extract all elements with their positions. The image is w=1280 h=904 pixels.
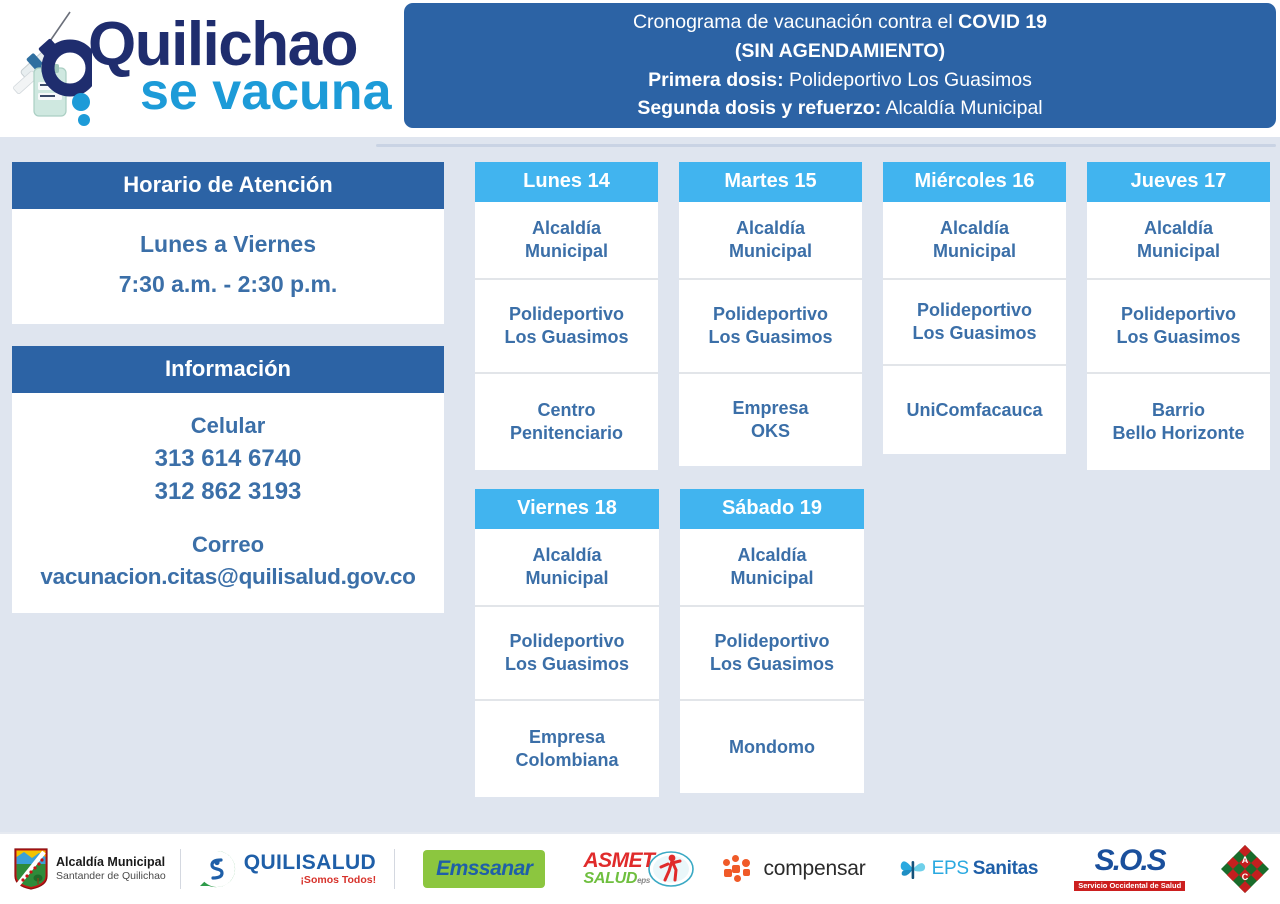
slot-line: Polideportivo <box>912 299 1036 322</box>
email-label: Correo <box>22 528 434 561</box>
day-card-grid: Lunes 14 AlcaldíaMunicipal Polideportivo… <box>475 162 1270 816</box>
vaccination-schedule-poster: Quilichao se vacuna Cronograma de vacuna… <box>0 0 1280 904</box>
brand-logo: Quilichao se vacuna <box>10 4 400 130</box>
quilisalud-mark-icon <box>197 849 237 889</box>
slot-line: Los Guasimos <box>708 326 832 349</box>
slot-jueves-17-2: PolideportivoLos Guasimos <box>1087 278 1270 372</box>
schedule-panel: Horario de Atención Lunes a Viernes 7:30… <box>12 162 444 324</box>
slot-lunes-14-3: CentroPenitenciario <box>475 372 658 470</box>
banner-line-no-appointment: (SIN AGENDAMIENTO) <box>735 37 945 66</box>
sos-name: S.O.S <box>1074 846 1185 876</box>
slot-jueves-17-3: BarrioBello Horizonte <box>1087 372 1270 470</box>
slot-lunes-14-1: AlcaldíaMunicipal <box>475 202 658 278</box>
day-header-sabado-19: Sábado 19 <box>680 489 864 529</box>
slot-line: Municipal <box>1137 240 1220 263</box>
footer-divider-1 <box>180 849 181 889</box>
compensar-name: compensar <box>763 857 865 881</box>
slot-jueves-17-1: AlcaldíaMunicipal <box>1087 202 1270 278</box>
day-card-viernes-18[interactable]: Viernes 18 AlcaldíaMunicipal Polideporti… <box>475 489 659 797</box>
emssanar-name: Emssanar <box>423 850 545 888</box>
slot-line: Municipal <box>525 567 608 590</box>
sos-tagline: Servicio Occidental de Salud <box>1074 881 1185 892</box>
footer-divider-2 <box>394 849 395 889</box>
slot-line: Alcaldía <box>1137 217 1220 240</box>
footer-logo-emssanar: Emssanar <box>423 838 545 900</box>
first-dose-value: Polideportivo Los Guasimos <box>784 69 1032 91</box>
slot-line: Polideportivo <box>710 630 834 653</box>
second-dose-value: Alcaldía Municipal <box>881 97 1043 119</box>
day-card-martes-15[interactable]: Martes 15 AlcaldíaMunicipal Polideportiv… <box>679 162 862 466</box>
logo-wordmark: Quilichao se vacuna <box>88 19 392 115</box>
slot-line: Alcaldía <box>525 544 608 567</box>
footer-logo-aic: A C <box>1221 838 1269 900</box>
day-header-viernes-18: Viernes 18 <box>475 489 659 529</box>
day-card-row-1: Lunes 14 AlcaldíaMunicipal Polideportivo… <box>475 162 1270 470</box>
day-header-miercoles-16: Miércoles 16 <box>883 162 1066 202</box>
day-card-sabado-19[interactable]: Sábado 19 AlcaldíaMunicipal Polideportiv… <box>680 489 864 793</box>
alcaldia-text: Alcaldía Municipal Santander de Quilicha… <box>56 855 166 883</box>
slot-martes-15-2: PolideportivoLos Guasimos <box>679 278 862 372</box>
banner-line-title: Cronograma de vacunación contra el COVID… <box>633 8 1047 37</box>
slot-line: Polideportivo <box>1116 303 1240 326</box>
slot-line: Alcaldía <box>729 217 812 240</box>
email-address[interactable]: vacunacion.citas@quilisalud.gov.co <box>22 561 434 593</box>
sos-text: S.O.S Servicio Occidental de Salud <box>1074 846 1185 892</box>
header-banner: Cronograma de vacunación contra el COVID… <box>404 3 1276 128</box>
information-panel-title: Información <box>12 346 444 393</box>
aic-letters: C <box>1242 872 1249 882</box>
slot-line: Polideportivo <box>505 630 629 653</box>
info-spacer <box>22 508 434 528</box>
footer-logo-bar: Alcaldía Municipal Santander de Quilicha… <box>0 832 1280 904</box>
asmet-line1: ASMET <box>583 849 654 872</box>
footer-logo-alcaldia: Alcaldía Municipal Santander de Quilicha… <box>0 838 166 900</box>
schedule-days: Lunes a Viernes <box>22 225 434 265</box>
slot-line: Los Guasimos <box>1116 326 1240 349</box>
day-header-lunes-14: Lunes 14 <box>475 162 658 202</box>
information-panel-body: Celular 313 614 6740 312 862 3193 Correo… <box>12 393 444 613</box>
quilisalud-text: QUILISALUD ¡Somos Todos! <box>244 852 376 885</box>
phone-number-1[interactable]: 313 614 6740 <box>22 442 434 475</box>
slot-line: Los Guasimos <box>504 326 628 349</box>
slot-line: Empresa <box>515 726 618 749</box>
slot-line: Los Guasimos <box>710 653 834 676</box>
syringe-vaccine-vial-icon <box>10 6 92 128</box>
header-divider <box>376 144 1276 147</box>
slot-line: Bello Horizonte <box>1112 422 1244 445</box>
slot-line: Barrio <box>1112 399 1244 422</box>
quilisalud-tagline: ¡Somos Todos! <box>244 875 376 886</box>
day-header-martes-15: Martes 15 <box>679 162 862 202</box>
slot-line: Mondomo <box>729 736 815 759</box>
day-card-jueves-17[interactable]: Jueves 17 AlcaldíaMunicipal Polideportiv… <box>1087 162 1270 470</box>
asmet-eps-label: eps <box>637 876 650 885</box>
footer-logo-sos: S.O.S Servicio Occidental de Salud <box>1074 838 1185 900</box>
asmet-subname: SALUDeps <box>583 871 654 886</box>
asmet-name: ASMET <box>583 851 654 871</box>
left-info-column: Horario de Atención Lunes a Viernes 7:30… <box>12 162 444 635</box>
slot-viernes-18-3: EmpresaColombiana <box>475 699 659 797</box>
slot-line: Municipal <box>525 240 608 263</box>
alcaldia-name: Alcaldía Municipal <box>56 855 166 870</box>
slot-line: Los Guasimos <box>505 653 629 676</box>
day-card-miercoles-16[interactable]: Miércoles 16 AlcaldíaMunicipal Polidepor… <box>883 162 1066 454</box>
day-header-jueves-17: Jueves 17 <box>1087 162 1270 202</box>
slot-martes-15-1: AlcaldíaMunicipal <box>679 202 862 278</box>
slot-martes-15-3: EmpresaOKS <box>679 372 862 466</box>
slot-miercoles-16-3: UniComfacauca <box>883 364 1066 454</box>
asmet-line2: SALUD <box>583 870 637 887</box>
slot-line: UniComfacauca <box>906 399 1042 422</box>
top-band: Quilichao se vacuna Cronograma de vacuna… <box>0 0 1280 137</box>
second-dose-label: Segunda dosis y refuerzo: <box>637 97 881 119</box>
alcaldia-coat-of-arms-icon <box>14 848 48 890</box>
slot-viernes-18-2: PolideportivoLos Guasimos <box>475 605 659 699</box>
footer-logo-asmet-salud: ASMET SALUDeps <box>583 838 694 900</box>
sanitas-name: Sanitas <box>973 858 1039 880</box>
slot-line: Penitenciario <box>510 422 623 445</box>
slot-line: Centro <box>510 399 623 422</box>
sanitas-butterfly-icon <box>898 854 928 884</box>
schedule-panel-title: Horario de Atención <box>12 162 444 209</box>
alcaldia-subtitle: Santander de Quilichao <box>56 870 166 883</box>
slot-lunes-14-2: PolideportivoLos Guasimos <box>475 278 658 372</box>
asmet-text: ASMET SALUDeps <box>583 851 654 887</box>
slot-line: Colombiana <box>515 749 618 772</box>
slot-line: Alcaldía <box>933 217 1016 240</box>
schedule-panel-body: Lunes a Viernes 7:30 a.m. - 2:30 p.m. <box>12 209 444 324</box>
phone-label: Celular <box>22 409 434 442</box>
slot-line: Alcaldía <box>730 544 813 567</box>
slot-sabado-19-3: Mondomo <box>680 699 864 793</box>
sanitas-eps-label: EPS <box>932 858 969 880</box>
slot-line: OKS <box>732 420 808 443</box>
slot-line: Los Guasimos <box>912 322 1036 345</box>
day-card-row-2: Viernes 18 AlcaldíaMunicipal Polideporti… <box>475 489 1270 797</box>
schedule-hours: 7:30 a.m. - 2:30 p.m. <box>22 265 434 305</box>
compensar-dots-icon <box>722 854 756 884</box>
day-card-lunes-14[interactable]: Lunes 14 AlcaldíaMunicipal Polideportivo… <box>475 162 658 470</box>
slot-line: Empresa <box>732 397 808 420</box>
slot-miercoles-16-2: PolideportivoLos Guasimos <box>883 278 1066 364</box>
slot-sabado-19-1: AlcaldíaMunicipal <box>680 529 864 605</box>
banner-title-prefix: Cronograma de vacunación contra el <box>633 11 958 33</box>
first-dose-label: Primera dosis: <box>648 69 783 91</box>
slot-miercoles-16-1: AlcaldíaMunicipal <box>883 202 1066 278</box>
slot-line: Polideportivo <box>504 303 628 326</box>
asmet-runner-icon <box>648 849 694 889</box>
slot-viernes-18-1: AlcaldíaMunicipal <box>475 529 659 605</box>
slot-line: Municipal <box>729 240 812 263</box>
aic-diamond-icon: A C <box>1221 844 1269 894</box>
information-panel: Información Celular 313 614 6740 312 862… <box>12 346 444 613</box>
phone-number-2[interactable]: 312 862 3193 <box>22 475 434 508</box>
slot-line: Polideportivo <box>708 303 832 326</box>
footer-logo-quilisalud: QUILISALUD ¡Somos Todos! <box>197 838 376 900</box>
banner-line-first-dose: Primera dosis: Polideportivo Los Guasimo… <box>648 66 1032 95</box>
footer-logo-compensar: compensar <box>722 838 865 900</box>
slot-line: Municipal <box>730 567 813 590</box>
slot-line: Alcaldía <box>525 217 608 240</box>
slot-sabado-19-2: PolideportivoLos Guasimos <box>680 605 864 699</box>
slot-line: Municipal <box>933 240 1016 263</box>
footer-logo-eps-sanitas: EPS Sanitas <box>898 838 1039 900</box>
quilisalud-name: QUILISALUD <box>244 852 376 874</box>
aic-letters: A <box>1242 855 1249 865</box>
banner-title-covid: COVID 19 <box>958 11 1047 33</box>
banner-line-second-dose: Segunda dosis y refuerzo: Alcaldía Munic… <box>637 94 1042 123</box>
